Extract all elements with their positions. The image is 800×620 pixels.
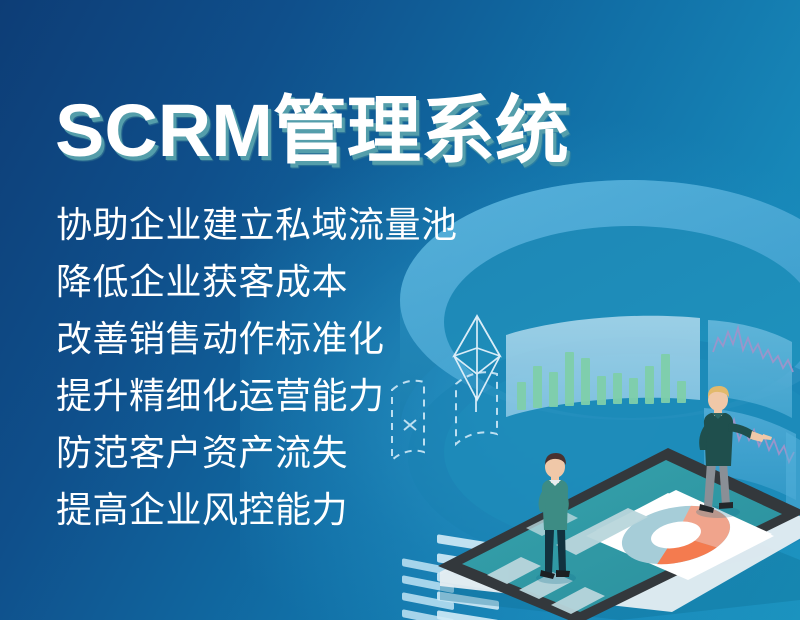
feature-item: 提升精细化运营能力	[56, 367, 496, 424]
text-column: SCRM管理系统 协助企业建立私域流量池 降低企业获客成本 改善销售动作标准化 …	[0, 0, 520, 620]
feature-list: 协助企业建立私域流量池 降低企业获客成本 改善销售动作标准化 提升精细化运营能力…	[56, 196, 496, 538]
page-title: SCRM管理系统	[55, 88, 569, 174]
feature-item: 提高企业风控能力	[56, 481, 496, 538]
feature-item: 协助企业建立私域流量池	[56, 196, 496, 253]
feature-item: 降低企业获客成本	[56, 253, 496, 310]
feature-item: 防范客户资产流失	[56, 424, 496, 481]
scrm-promo-banner: SCRM管理系统 协助企业建立私域流量池 降低企业获客成本 改善销售动作标准化 …	[0, 0, 800, 620]
feature-item: 改善销售动作标准化	[56, 310, 496, 367]
